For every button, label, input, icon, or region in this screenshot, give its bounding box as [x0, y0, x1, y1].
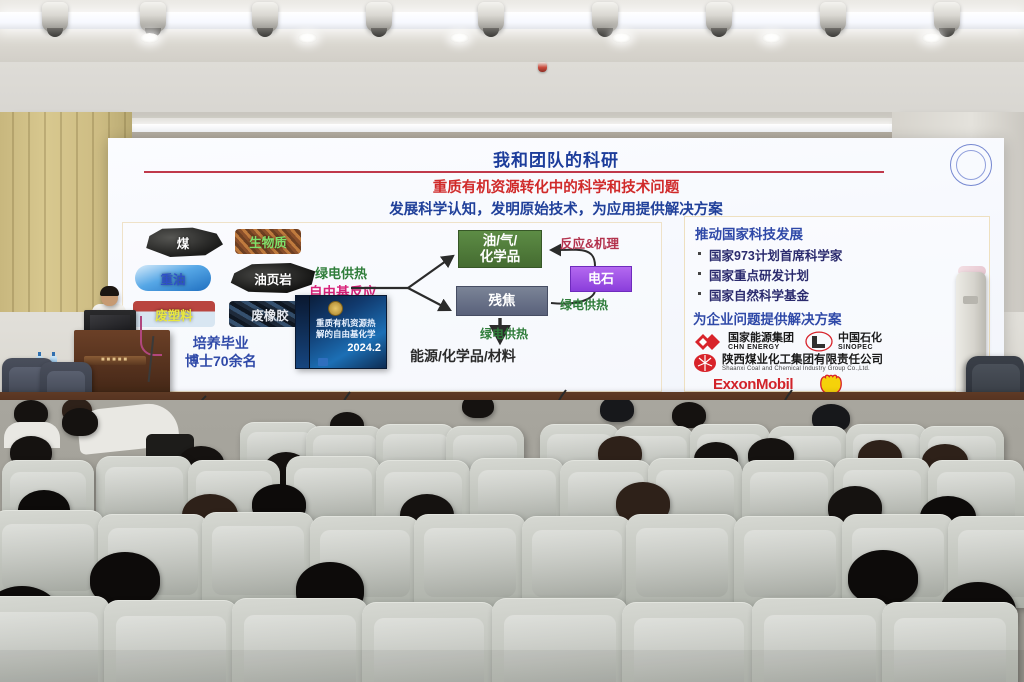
audience-head	[848, 550, 918, 604]
shaanxi-coal-label: 陕西煤业化工集团有限责任公司 Shaanxi Coal and Chemical…	[722, 354, 883, 372]
right-panel-bullet: 国家重点研发计划	[709, 265, 981, 284]
ceiling-spotlight	[42, 2, 68, 32]
audience-head	[462, 400, 494, 418]
label-training-graduates: 培养毕业 博士70余名	[185, 335, 257, 370]
label-flow-output: 能源/化学品/材料	[410, 346, 516, 366]
lectern-nameplate: ■■■■■	[84, 356, 146, 365]
right-panel-heading-1: 推动国家科技发展	[695, 223, 981, 243]
smoke-detector-icon	[538, 62, 547, 72]
seat	[734, 516, 846, 608]
logo-row-1: 国家能源集团 CHN ENERGY 中国石化 SINOPEC	[693, 331, 981, 352]
right-panel-heading-2: 为企业问题提供解决方案	[693, 308, 981, 328]
ceiling-spotlight	[140, 2, 166, 32]
emblem-inner-ring	[956, 150, 986, 180]
ceiling-spotlight	[706, 2, 732, 32]
logo-row-2: 陕西煤业化工集团有限责任公司 Shaanxi Coal and Chemical…	[693, 353, 981, 373]
training-line-2: 博士70余名	[185, 353, 257, 371]
training-line-1: 培养毕业	[185, 335, 257, 353]
ceiling-downlight	[762, 33, 781, 43]
book-title: 重质有机资源热解的自由基化学	[316, 318, 382, 339]
ceiling-mid	[0, 62, 1024, 118]
book-seal-icon	[328, 301, 343, 316]
label-green-power-heating: 绿电供热	[315, 263, 367, 282]
presenter-hair	[100, 286, 119, 296]
node-residual-coke: 残焦	[456, 286, 548, 316]
shaanxi-coal-logo-icon	[693, 353, 717, 373]
ceiling-spotlight	[934, 2, 960, 32]
material-biomass: 生物质	[235, 229, 301, 254]
ceiling-downlight	[140, 33, 159, 43]
audience-area	[0, 400, 1024, 682]
ceiling-spotlight	[252, 2, 278, 32]
university-emblem-icon	[950, 144, 992, 186]
right-panel-bullet: 国家自然科学基金	[709, 285, 981, 304]
slide-right-panel: 推动国家科技发展 国家973计划首席科学家 国家重点研发计划 国家自然科学基金 …	[684, 216, 990, 392]
audience-head	[600, 400, 634, 422]
lecture-hall-photo: 我和团队的科研 重质有机资源转化中的科学和技术问题 发展科学认知，发明原始技术，…	[0, 0, 1024, 682]
label-green-heat-down: 绿电供热	[480, 325, 528, 342]
bending-person-head	[62, 408, 98, 436]
projection-screen: 我和团队的科研 重质有机资源转化中的科学和技术问题 发展科学认知，发明原始技术，…	[108, 138, 1004, 400]
seat	[414, 514, 526, 608]
right-panel-bullet: 国家973计划首席科学家	[709, 245, 981, 264]
book-cover-image: 重质有机资源热解的自由基化学 2024.2	[295, 295, 387, 369]
material-heavy-oil: 重油	[135, 265, 211, 291]
title-divider	[144, 171, 884, 173]
chn-energy-logo-icon	[693, 331, 723, 352]
ceiling-downlight	[612, 33, 631, 43]
ceiling-spotlight	[366, 2, 392, 32]
book-year: 2024.2	[347, 342, 381, 354]
ceiling-downlight	[450, 33, 469, 43]
material-coal: 煤	[143, 227, 223, 257]
material-oil-shale: 油页岩	[229, 263, 317, 293]
publisher-logo-icon	[318, 358, 328, 366]
ceiling-spotlight	[592, 2, 618, 32]
chn-energy-label: 国家能源集团 CHN ENERGY	[728, 333, 794, 351]
sinopec-logo-icon	[805, 331, 833, 352]
slide-subtitle-red: 重质有机资源转化中的科学和技术问题	[108, 176, 1004, 197]
node-calcium-carbide: 电石	[570, 266, 632, 292]
ceiling-spotlight	[820, 2, 846, 32]
ceiling-downlight	[922, 33, 941, 43]
seat	[626, 514, 738, 608]
sinopec-label: 中国石化 SINOPEC	[838, 333, 882, 351]
slide-title: 我和团队的科研	[108, 146, 1004, 171]
label-reaction-mechanism: 反应&机理	[560, 233, 619, 252]
ceiling-downlight	[298, 33, 317, 43]
node-oil-gas-chemicals: 油/气/化学品	[458, 230, 542, 268]
label-green-heat-right: 绿电供热	[560, 296, 608, 313]
ceiling-spotlight	[478, 2, 504, 32]
seat	[522, 516, 632, 608]
book-spine	[296, 296, 310, 368]
